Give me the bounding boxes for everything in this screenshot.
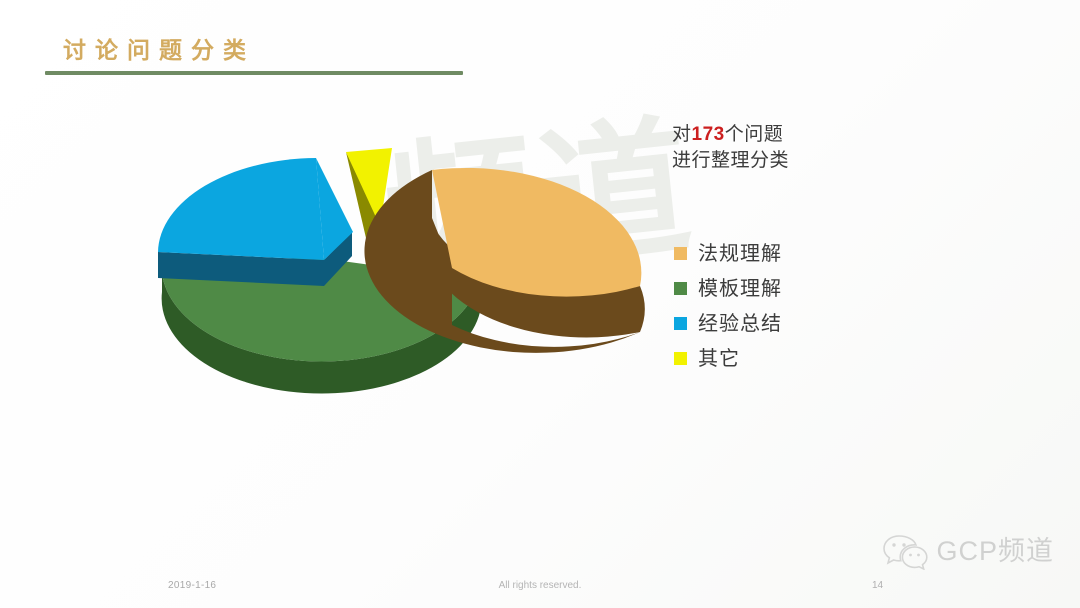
chart-legend: 法规理解 模板理解 经验总结 其它 <box>674 236 782 376</box>
brand-watermark: GCP频道 <box>882 532 1054 570</box>
footer-rights: All rights reserved. <box>0 580 1080 591</box>
legend-item-3[interactable]: 其它 <box>674 341 782 376</box>
caption-text: 对173个问题 进行整理分类 <box>672 122 922 174</box>
legend-label-2: 经验总结 <box>698 313 782 335</box>
legend-item-0[interactable]: 法规理解 <box>674 236 782 271</box>
title-block: 讨论问题分类 <box>45 34 515 75</box>
legend-swatch-icon-3 <box>674 352 687 365</box>
legend-item-2[interactable]: 经验总结 <box>674 306 782 341</box>
caption-line-2: 进行整理分类 <box>672 148 922 174</box>
brand-name: GCP频道 <box>936 536 1054 566</box>
footer-page-number: 14 <box>872 580 883 591</box>
caption-line-1: 对173个问题 <box>672 122 922 148</box>
legend-swatch-icon-2 <box>674 317 687 330</box>
title-underline <box>45 71 463 75</box>
caption-highlight-count: 173 <box>692 124 725 145</box>
legend-item-1[interactable]: 模板理解 <box>674 271 782 306</box>
pie-chart <box>140 140 680 460</box>
legend-label-0: 法规理解 <box>698 243 782 265</box>
legend-label-1: 模板理解 <box>698 278 782 300</box>
caption-suffix: 个问题 <box>725 124 784 145</box>
caption-prefix: 对 <box>672 124 692 145</box>
legend-swatch-icon-0 <box>674 247 687 260</box>
wechat-icon <box>882 532 928 570</box>
slide-canvas: 频道 讨论问题分类 <box>0 0 1080 608</box>
page-title: 讨论问题分类 <box>45 34 515 66</box>
legend-label-3: 其它 <box>698 348 740 370</box>
legend-swatch-icon-1 <box>674 282 687 295</box>
pie-slice-top-blue <box>158 158 324 260</box>
